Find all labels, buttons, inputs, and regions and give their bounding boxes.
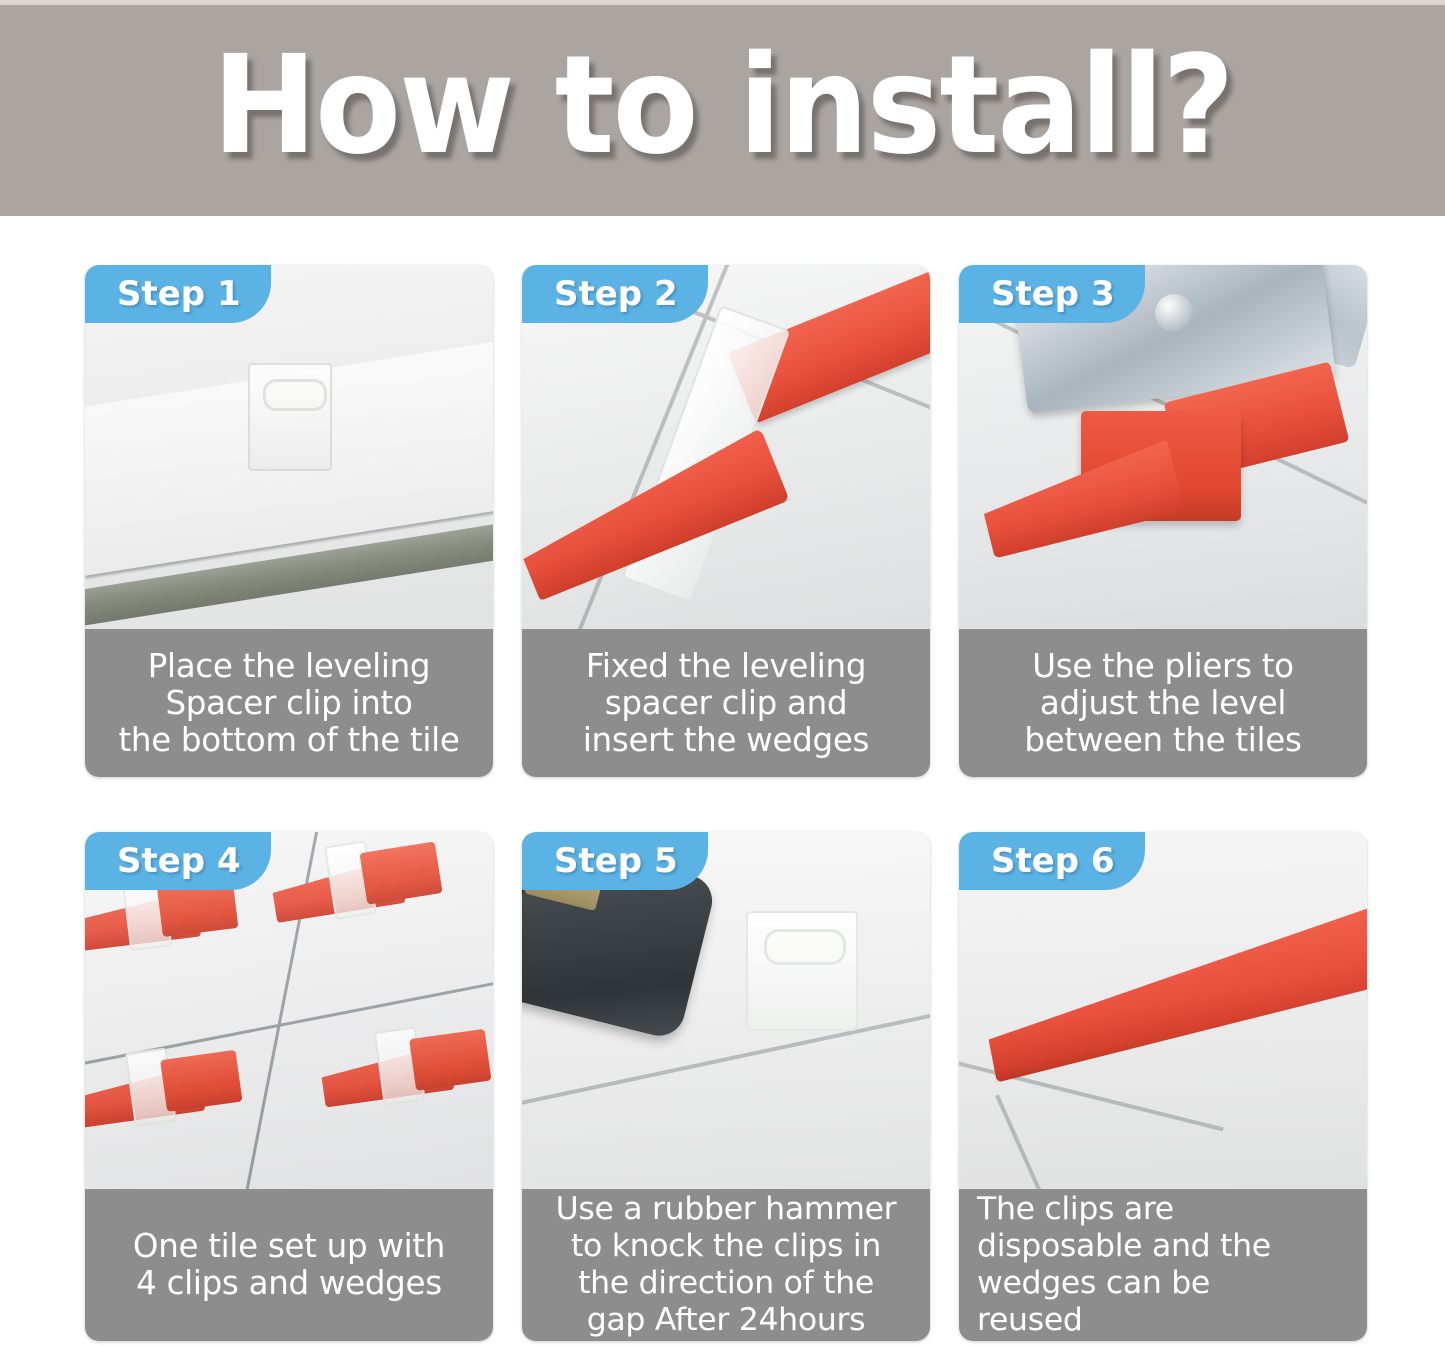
- step-caption-6: The clips are disposable and the wedges …: [959, 1189, 1367, 1341]
- infographic-page: How to install? Step 1 Place the levelin…: [0, 0, 1445, 1346]
- header-top-strip: [0, 0, 1445, 5]
- step-caption-3: Use the pliers to adjust the level betwe…: [959, 629, 1367, 777]
- wedge-tail: [409, 1029, 491, 1091]
- pliers-bolt: [1155, 294, 1193, 332]
- step-card-3[interactable]: Step 3 Use the pliers to adjust the leve…: [959, 265, 1367, 777]
- step-2-photo: Step 2: [522, 265, 930, 629]
- page-title: How to install?: [58, 22, 1387, 190]
- steps-grid: Step 1 Place the leveling Spacer clip in…: [85, 265, 1366, 1341]
- spacer-clip: [248, 363, 332, 471]
- step-badge-2: Step 2: [522, 265, 708, 323]
- spacer-clip: [746, 911, 858, 1031]
- step-caption-4: One tile set up with 4 clips and wedges: [85, 1189, 493, 1341]
- step-badge-1: Step 1: [85, 265, 271, 323]
- step-6-photo: Step 6: [959, 832, 1367, 1189]
- wedge-tail: [160, 1050, 242, 1112]
- step-card-5[interactable]: Step 5 Use a rubber hammer to knock the …: [522, 832, 930, 1341]
- step-card-6[interactable]: Step 6 The clips are disposable and the …: [959, 832, 1367, 1341]
- step-badge-6: Step 6: [959, 832, 1145, 890]
- step-card-2[interactable]: Step 2 Fixed the leveling spacer clip an…: [522, 265, 930, 777]
- step-caption-2: Fixed the leveling spacer clip and inser…: [522, 629, 930, 777]
- wedge-tail: [359, 842, 442, 905]
- step-badge-4: Step 4: [85, 832, 271, 890]
- step-1-photo: Step 1: [85, 265, 493, 629]
- step-card-4[interactable]: Step 4 One tile set up with 4 clips and …: [85, 832, 493, 1341]
- step-caption-1: Place the leveling Spacer clip into the …: [85, 629, 493, 777]
- step-caption-5: Use a rubber hammer to knock the clips i…: [522, 1189, 930, 1341]
- step-card-1[interactable]: Step 1 Place the leveling Spacer clip in…: [85, 265, 493, 777]
- step-4-photo: Step 4: [85, 832, 493, 1189]
- step-5-photo: Step 5: [522, 832, 930, 1189]
- step-badge-3: Step 3: [959, 265, 1145, 323]
- header-band: How to install?: [0, 0, 1445, 216]
- step-badge-5: Step 5: [522, 832, 708, 890]
- step-3-photo: Step 3: [959, 265, 1367, 629]
